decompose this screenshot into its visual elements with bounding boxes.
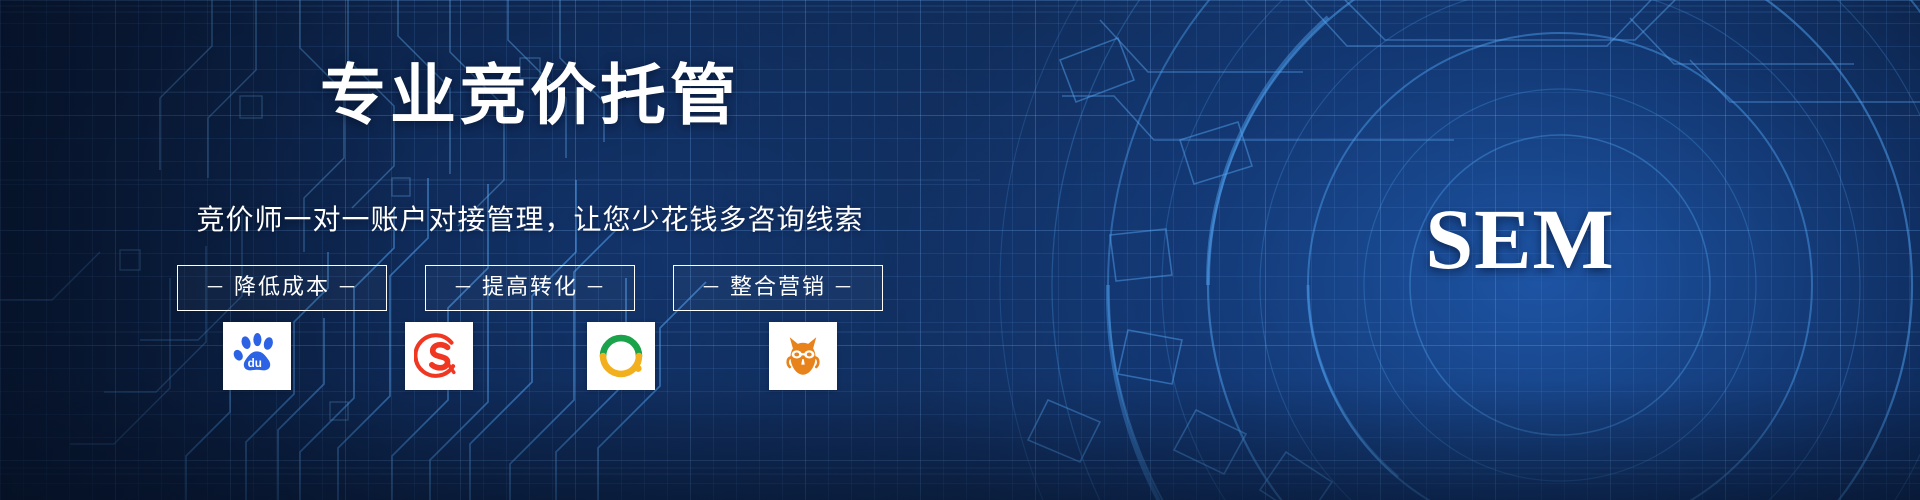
so360-ring-icon — [596, 331, 646, 381]
shenma-horse-icon — [778, 331, 828, 381]
badge-dash-right: － — [826, 277, 862, 299]
baidu-paw-icon: du — [232, 331, 282, 381]
badge-dash-left: － — [446, 277, 482, 299]
badge-dash-left: － — [198, 277, 234, 299]
badge-integrated-marketing[interactable]: －整合营销－ — [673, 265, 883, 311]
platform-logo-sogou[interactable] — [405, 322, 473, 390]
badge-reduce-cost[interactable]: －降低成本－ — [177, 265, 387, 311]
page-title: 专业竞价托管 — [0, 62, 1060, 128]
badge-dash-right: － — [330, 277, 366, 299]
page-subtitle: 竞价师一对一账户对接管理，让您少花钱多咨询线索 — [0, 198, 1060, 238]
badge-label: 整合营销 — [730, 274, 826, 299]
badge-dash-right: － — [578, 277, 614, 299]
badge-dash-left: － — [694, 277, 730, 299]
platform-logo-shenma[interactable] — [769, 322, 837, 390]
platform-logo-group: du — [0, 322, 1060, 390]
brand-mark-sem: SEM — [1360, 196, 1680, 282]
feature-badge-group: －降低成本－ －提高转化－ －整合营销－ — [0, 265, 1060, 311]
platform-logo-360-search[interactable] — [587, 322, 655, 390]
badge-label: 降低成本 — [234, 274, 330, 299]
badge-improve-conversion[interactable]: －提高转化－ — [425, 265, 635, 311]
platform-logo-baidu[interactable]: du — [223, 322, 291, 390]
sem-hosting-banner: 专业竞价托管 竞价师一对一账户对接管理，让您少花钱多咨询线索 －降低成本－ －提… — [0, 0, 1920, 500]
sogou-s-icon — [414, 331, 464, 381]
badge-label: 提高转化 — [482, 274, 578, 299]
svg-text:du: du — [248, 357, 262, 370]
